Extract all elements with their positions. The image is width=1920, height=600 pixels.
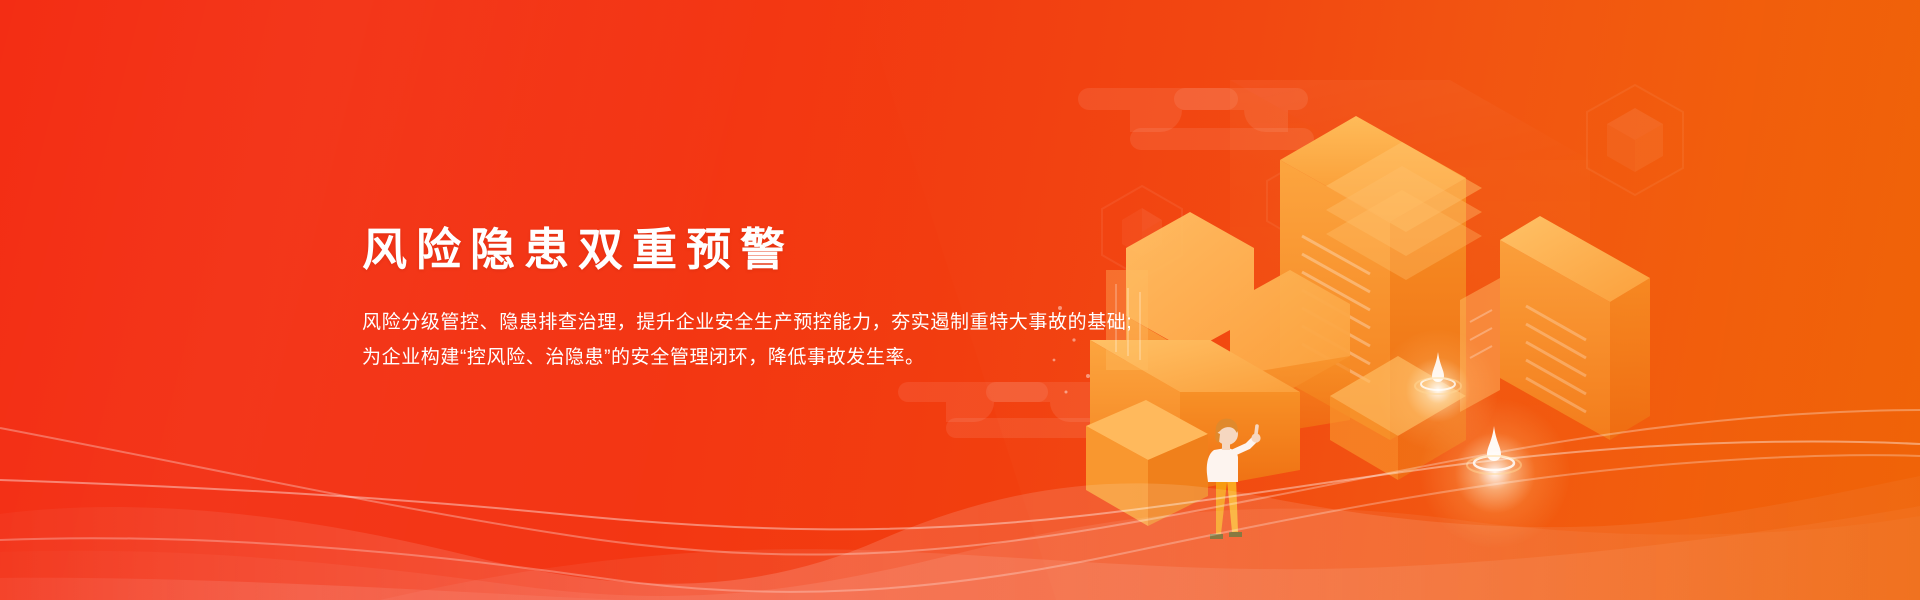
- subtitle-line-1: 风险分级管控、隐患排查治理，提升企业安全生产预控能力，夯实遏制重特大事故的基础;: [362, 305, 1132, 340]
- hexagon-cube-icon: [1580, 80, 1690, 200]
- cloud-motif: [1078, 88, 1308, 150]
- hero-copy: 风险隐患双重预警 风险分级管控、隐患排查治理，提升企业安全生产预控能力，夯实遏制…: [362, 222, 1132, 375]
- glow-drop-ring-icon: [1414, 352, 1462, 398]
- hexagon-cube-icon: [1262, 158, 1340, 244]
- person-pointing-figure: [1196, 412, 1270, 552]
- cloud-motif: [898, 382, 1110, 438]
- glow-drop-ring-icon: [1466, 426, 1522, 480]
- hero-banner: 风险隐患双重预警 风险分级管控、隐患排查治理，提升企业安全生产预控能力，夯实遏制…: [0, 0, 1920, 600]
- subtitle-line-2: 为企业构建“控风险、治隐患”的安全管理闭环，降低事故发生率。: [362, 340, 1132, 375]
- hero-subtitle: 风险分级管控、隐患排查治理，提升企业安全生产预控能力，夯实遏制重特大事故的基础;…: [362, 278, 1132, 375]
- page-title: 风险隐患双重预警: [362, 222, 1132, 278]
